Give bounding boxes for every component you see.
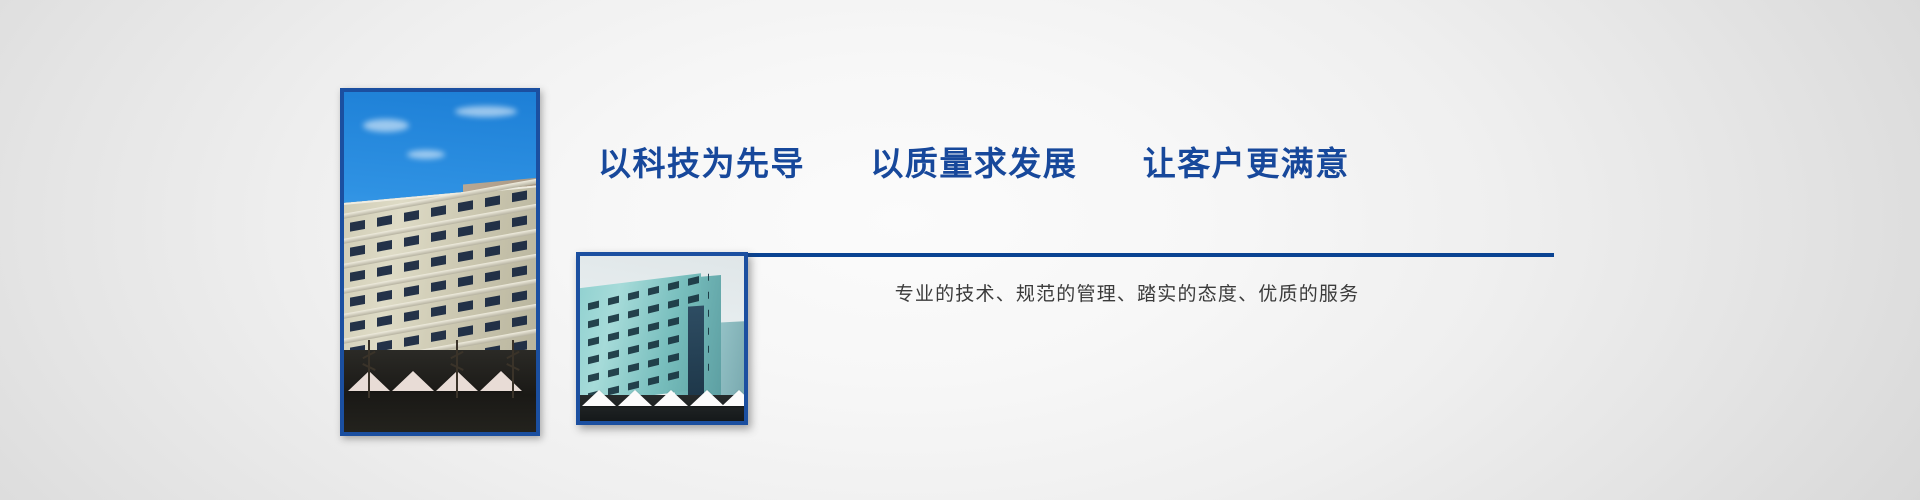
headline-segment-2: 以质量求发展 (870, 142, 1077, 186)
headline-segment-3: 让客户更满意 (1143, 142, 1350, 186)
canopy-tent-icon (392, 371, 434, 391)
cloud-icon (455, 106, 517, 117)
tree-icon (368, 340, 370, 398)
banner-headline: 以科技为先导 以质量求发展 让客户更满意 (598, 142, 1558, 186)
canopy-tent-icon (722, 390, 744, 406)
canopy-tent-icon (480, 371, 522, 391)
headline-divider-rule (700, 253, 1554, 257)
cloud-icon (407, 150, 445, 159)
canopy-tent-icon (654, 390, 688, 406)
photo-inner-secondary (580, 256, 744, 421)
canopy-tent-icon (582, 390, 616, 406)
canopy-tent-icon (690, 390, 724, 406)
tree-icon (456, 340, 458, 398)
glass-curtain-wall (688, 305, 704, 402)
headline-segment-1: 以科技为先导 (598, 142, 805, 186)
office-building-secondary-photo[interactable] (576, 252, 748, 425)
canopy-tent-icon (618, 390, 652, 406)
photo-inner-primary (344, 92, 536, 432)
window-grid (580, 273, 701, 404)
tree-icon (512, 340, 514, 398)
building-facade (580, 273, 701, 404)
promo-banner: 以科技为先导 以质量求发展 让客户更满意 专业的技术、规范的管理、踏实的态度、优… (0, 0, 1920, 500)
banner-subline: 专业的技术、规范的管理、踏实的态度、优质的服务 (700, 280, 1554, 310)
office-building-primary-photo[interactable] (340, 88, 540, 436)
